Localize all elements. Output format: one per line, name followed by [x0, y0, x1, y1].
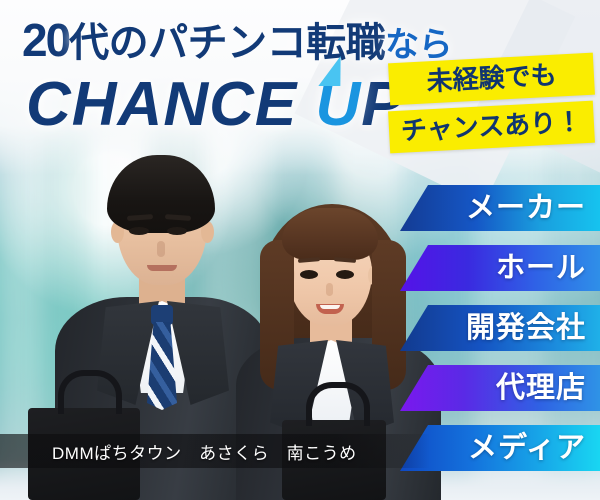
- woman-nose: [326, 283, 333, 296]
- man-mouth: [147, 265, 177, 271]
- man-eye-left: [129, 227, 149, 235]
- logo-text-chance: CHANCE: [26, 70, 315, 139]
- chance-up-logo: CHANCE UP: [26, 74, 404, 136]
- woman-bangs: [282, 208, 378, 260]
- category-button-hall[interactable]: ホール: [400, 245, 600, 291]
- credit-bar: DMMぱちタウン あさくら 南こうめ: [0, 434, 430, 468]
- category-label-agency: 代理店: [496, 374, 586, 403]
- logo-letter-u: U: [315, 70, 361, 139]
- badge-line-1: 未経験でも: [388, 53, 595, 106]
- category-label-media: メディア: [468, 434, 586, 463]
- briefcase-handle-left: [58, 370, 122, 414]
- category-button-agency[interactable]: 代理店: [400, 365, 600, 411]
- man-eye-right: [167, 227, 187, 235]
- advertisement-banner[interactable]: 20代のパチンコ転職なら CHANCE UP 未経験でも チャンスあり！ メーカ…: [0, 0, 600, 500]
- category-button-list: メーカー ホール 開発会社 代理店 メディア: [400, 185, 600, 485]
- category-label-hall: ホール: [496, 254, 586, 283]
- category-label-maker: メーカー: [466, 194, 586, 223]
- woman-eye-right: [336, 270, 354, 279]
- man-nose: [157, 241, 165, 257]
- category-label-developer: 開発会社: [466, 314, 586, 343]
- category-button-maker[interactable]: メーカー: [400, 185, 600, 231]
- credit-text: DMMぱちタウン あさくら 南こうめ: [0, 439, 357, 464]
- headline: 20代のパチンコ転職なら: [22, 17, 452, 63]
- category-button-media[interactable]: メディア: [400, 425, 600, 471]
- headline-number: 20: [22, 14, 69, 66]
- inexperienced-welcome-badge: 未経験でも チャンスあり！: [389, 58, 594, 148]
- man-hair: [107, 155, 215, 233]
- woman-eye-left: [300, 270, 318, 279]
- badge-line-2: チャンスあり！: [388, 101, 595, 154]
- category-button-developer[interactable]: 開発会社: [400, 305, 600, 351]
- briefcase-handle-right: [306, 382, 370, 426]
